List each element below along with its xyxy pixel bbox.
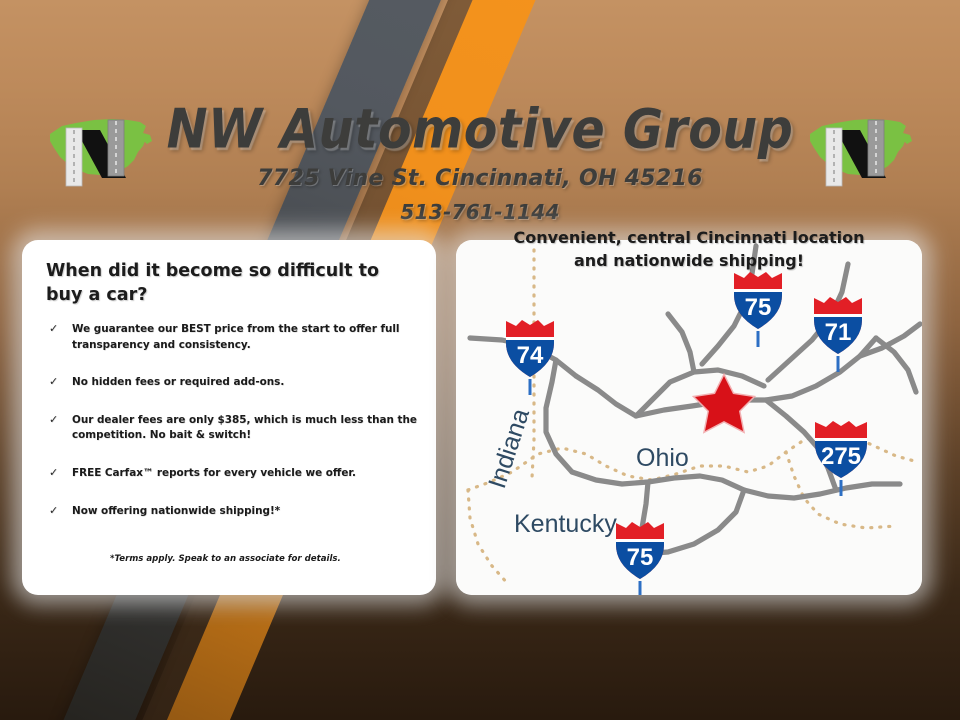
- list-item-text: Our dealer fees are only $385, which is …: [72, 414, 417, 442]
- benefits-heading: When did it become so difficult to buy a…: [46, 260, 410, 307]
- list-item-text: We guarantee our BEST price from the sta…: [72, 323, 399, 351]
- list-item-text: Now offering nationwide shipping!*: [72, 505, 280, 517]
- benefits-panel: When did it become so difficult to buy a…: [22, 240, 436, 595]
- checkmark-icon: ✓: [49, 465, 58, 482]
- slide-canvas: NW Automotive Group 7725 Vine St. Cincin…: [0, 0, 960, 720]
- map-panel: Indiana Ohio Kentucky 74: [456, 240, 922, 595]
- list-item: ✓ Our dealer fees are only $385, which i…: [44, 413, 424, 444]
- list-item-text: No hidden fees or required add-ons.: [72, 376, 284, 388]
- shield-number: 75: [745, 294, 772, 321]
- shield-number: 275: [821, 443, 861, 470]
- regional-map: Indiana Ohio Kentucky 74: [456, 240, 922, 595]
- benefits-list: ✓ We guarantee our BEST price from the s…: [44, 322, 424, 541]
- shield-number: 71: [825, 319, 852, 346]
- list-item: ✓ FREE Carfax™ reports for every vehicle…: [44, 466, 424, 482]
- nw-automotive-logo-left: [42, 108, 160, 188]
- list-item: ✓ No hidden fees or required add-ons.: [44, 375, 424, 391]
- company-phone: 513-761-1144: [0, 200, 960, 224]
- list-item-text: FREE Carfax™ reports for every vehicle w…: [72, 467, 356, 479]
- checkmark-icon: ✓: [49, 374, 58, 391]
- list-item: ✓ Now offering nationwide shipping!*: [44, 504, 424, 520]
- terms-disclaimer: *Terms apply. Speak to an associate for …: [110, 554, 410, 564]
- list-item: ✓ We guarantee our BEST price from the s…: [44, 322, 424, 353]
- checkmark-icon: ✓: [49, 412, 58, 429]
- checkmark-icon: ✓: [49, 503, 58, 520]
- shield-number: 74: [517, 342, 544, 369]
- state-label-ohio: Ohio: [636, 444, 689, 472]
- nw-automotive-logo-right: [802, 108, 920, 188]
- shield-number: 75: [627, 544, 654, 571]
- state-label-kentucky: Kentucky: [514, 510, 617, 538]
- checkmark-icon: ✓: [49, 321, 58, 338]
